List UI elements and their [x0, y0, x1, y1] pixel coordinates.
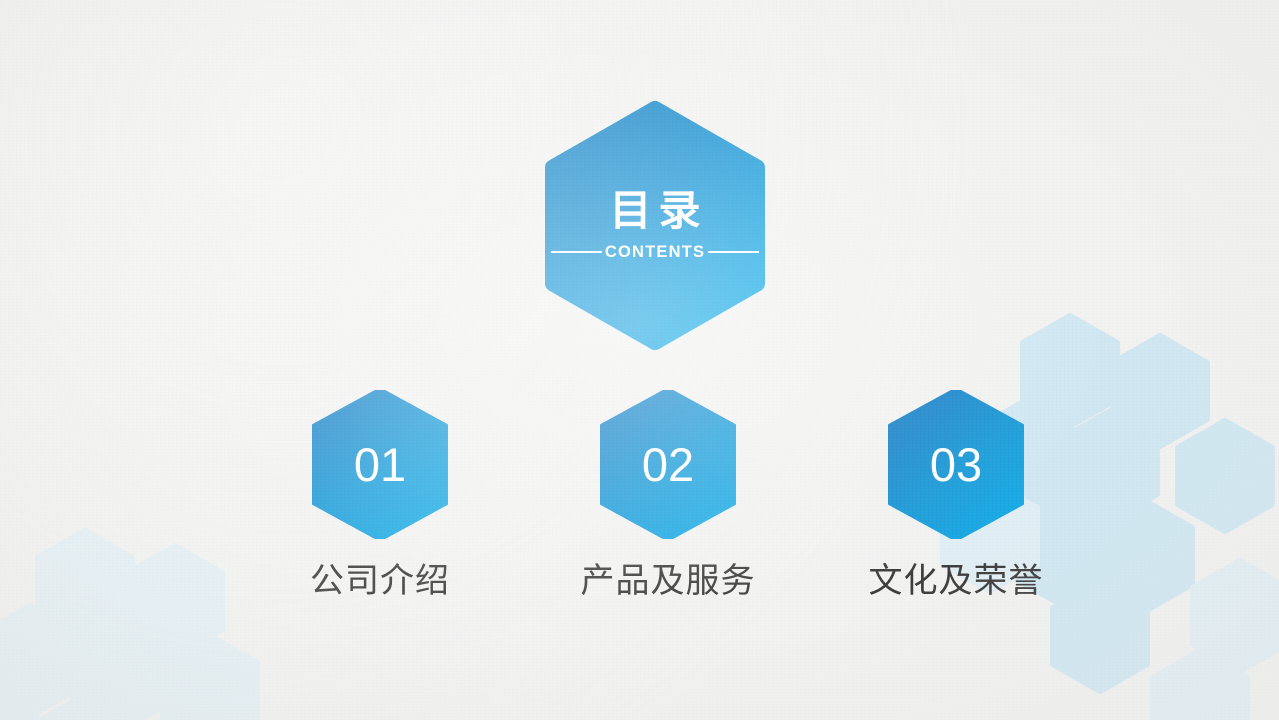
toc-item-01[interactable]: 01 公司介绍 [312, 390, 448, 539]
toc-item-03[interactable]: 03 文化及荣誉 [888, 390, 1024, 539]
number-hexagon-03[interactable]: 03 [888, 390, 1024, 539]
presentation-slide: 目录 CONTENTS 01 公司介绍 [0, 0, 1279, 720]
contents-hexagon: 目录 CONTENTS [544, 104, 766, 347]
number-hexagon-01[interactable]: 01 [312, 390, 448, 539]
toc-item-02[interactable]: 02 产品及服务 [600, 390, 736, 539]
toc-item-label-03: 文化及荣誉 [786, 553, 1126, 602]
number-hexagon-02[interactable]: 02 [600, 390, 736, 539]
